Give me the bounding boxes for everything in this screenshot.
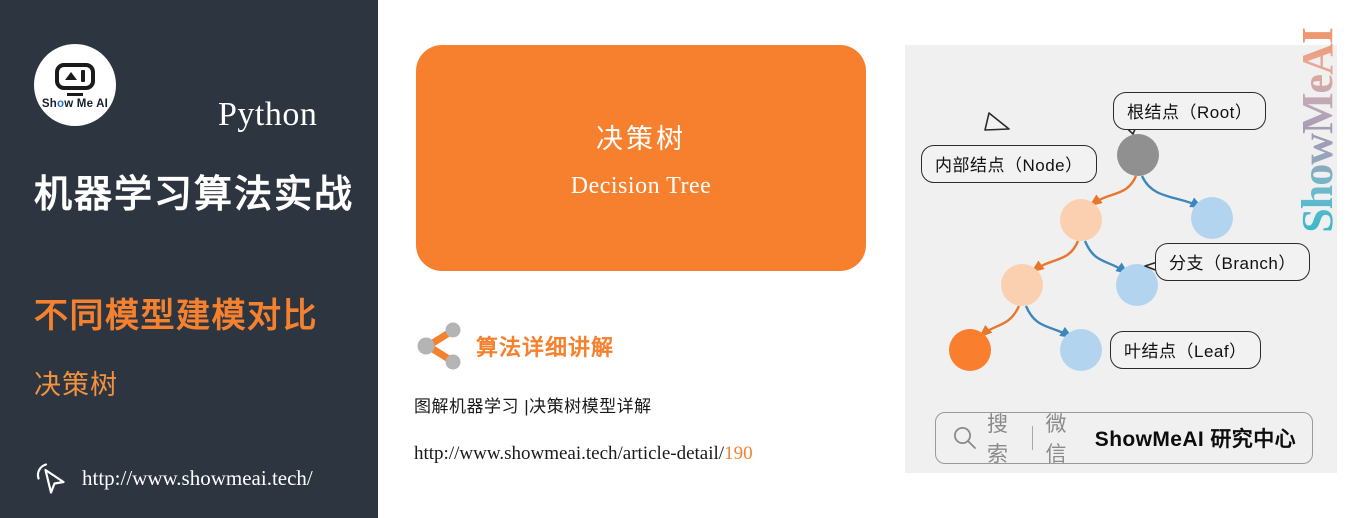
callout-root-label: 根结点（Root） bbox=[1113, 92, 1266, 130]
brand-label: ShowMeAI 研究中心 bbox=[1095, 423, 1296, 453]
edge-root-left bbox=[1091, 176, 1136, 205]
tree-node-leaf-2 bbox=[1116, 264, 1158, 306]
sidebar-url[interactable]: http://www.showmeai.tech/ bbox=[82, 466, 313, 491]
callout-leaf-label: 叶结点（Leaf） bbox=[1110, 331, 1261, 369]
share-row: 算法详细讲解 bbox=[414, 322, 614, 370]
callout-node-label: 内部结点（Node） bbox=[921, 145, 1097, 183]
tree-node-leaf-1 bbox=[1191, 197, 1233, 239]
center-column: 决策树 Decision Tree 算法详细讲解 图解机器学习 |决策树模型详解… bbox=[378, 0, 905, 518]
wechat-search-bar[interactable]: 搜索 微信 ShowMeAI 研究中心 bbox=[935, 412, 1313, 464]
sidebar-footer: http://www.showmeai.tech/ bbox=[30, 458, 313, 498]
logo-circle: Show Me AI bbox=[34, 44, 116, 126]
callout-tail-node bbox=[985, 113, 1009, 130]
card-title-en: Decision Tree bbox=[571, 173, 712, 200]
logo-text-post: w Me AI bbox=[64, 98, 108, 110]
magnifier-icon bbox=[952, 425, 978, 451]
callout-leaf: 叶结点（Leaf） bbox=[1110, 331, 1261, 369]
share-label: 算法详细讲解 bbox=[476, 330, 614, 362]
callout-branch: 分支（Branch） bbox=[1155, 243, 1310, 281]
tree-node-leaf-3 bbox=[949, 329, 991, 371]
callout-branch-label: 分支（Branch） bbox=[1155, 243, 1310, 281]
logo-text-pre: Sh bbox=[42, 98, 57, 110]
robot-a-glyph bbox=[65, 72, 77, 80]
sidebar-heading-accent: 不同模型建模对比 bbox=[34, 288, 318, 337]
tree-node-internal-1 bbox=[1060, 199, 1102, 241]
robot-head-icon bbox=[55, 63, 95, 90]
edge-n2-right bbox=[1026, 306, 1071, 337]
callout-node: 内部结点（Node） bbox=[921, 145, 1097, 183]
tree-node-leaf-4 bbox=[1060, 329, 1102, 371]
robot-i-glyph bbox=[81, 70, 85, 82]
callout-root: 根结点（Root） bbox=[1113, 92, 1266, 130]
decision-tree-panel: 根结点（Root） 内部结点（Node） 分支（Branch） 叶结点（Leaf… bbox=[905, 45, 1337, 473]
title-card: 决策树 Decision Tree bbox=[416, 45, 866, 271]
logo-wordmark: Show Me AI bbox=[42, 98, 108, 110]
edge-n2-left bbox=[981, 306, 1019, 336]
cursor-pointer-icon bbox=[30, 458, 70, 498]
search-label: 搜索 bbox=[987, 408, 1020, 468]
sidebar: Show Me AI Python 机器学习算法实战 不同模型建模对比 决策树 … bbox=[0, 0, 378, 518]
subtitle-line: 图解机器学习 |决策树模型详解 bbox=[414, 392, 652, 417]
article-url[interactable]: http://www.showmeai.tech/article-detail/… bbox=[414, 443, 753, 465]
sidebar-heading-main: 机器学习算法实战 bbox=[34, 163, 354, 218]
card-title-cn: 决策树 bbox=[596, 117, 686, 156]
search-divider bbox=[1032, 426, 1033, 450]
channel-label: 微信 bbox=[1045, 408, 1078, 468]
python-label: Python bbox=[218, 96, 317, 134]
share-nodes-icon bbox=[414, 322, 466, 370]
edge-n1-right bbox=[1085, 241, 1127, 273]
article-url-number: 190 bbox=[724, 443, 753, 464]
tree-node-root bbox=[1117, 134, 1159, 176]
robot-mouth-icon bbox=[67, 93, 83, 96]
tree-node-internal-2 bbox=[1001, 264, 1043, 306]
article-url-prefix: http://www.showmeai.tech/article-detail/ bbox=[414, 443, 724, 464]
brand-logo: Show Me AI bbox=[34, 44, 116, 126]
edge-n1-left bbox=[1033, 241, 1078, 271]
edge-root-right bbox=[1142, 176, 1201, 207]
poster-root: Show Me AI Python 机器学习算法实战 不同模型建模对比 决策树 … bbox=[0, 0, 1361, 518]
sidebar-heading-sub: 决策树 bbox=[34, 363, 118, 402]
